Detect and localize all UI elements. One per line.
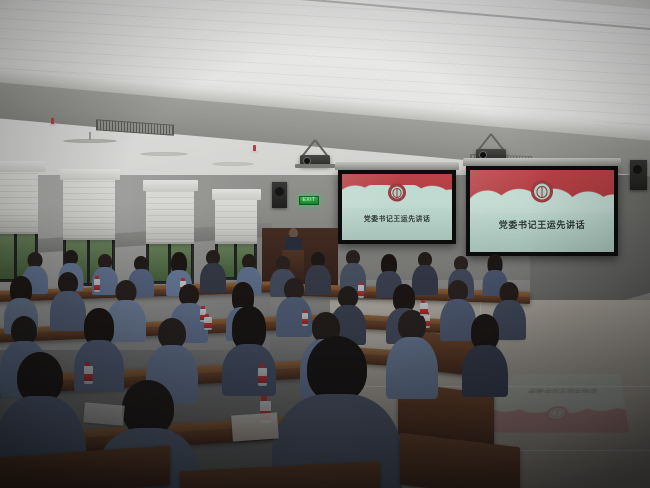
slide-title-left: 党委书记王运先讲话 xyxy=(342,214,452,224)
sprinkler-head-1 xyxy=(51,118,54,125)
bottle-label xyxy=(94,285,100,290)
window-blind xyxy=(215,196,257,244)
screen-roller-housing xyxy=(463,158,621,166)
party-emblem-icon xyxy=(390,185,405,200)
wall-speaker-right xyxy=(630,160,647,190)
blind-ribs xyxy=(215,196,257,242)
person-head xyxy=(307,336,367,402)
conference-hall-photo: EXIT 党委书记王运先讲话 党委书记王运先讲话 xyxy=(0,0,650,488)
window-blind xyxy=(63,178,115,240)
window-1-header xyxy=(0,161,46,172)
blind-ribs xyxy=(146,188,194,242)
bottle-label xyxy=(420,309,428,314)
window-4-header xyxy=(212,189,261,200)
right-screen: 党委书记王运先讲话 xyxy=(466,166,618,256)
bottle-label xyxy=(258,376,267,383)
fan-stem-1 xyxy=(89,132,91,140)
ceiling-fan-3 xyxy=(212,162,254,166)
audience-person xyxy=(222,306,276,392)
ceiling-fan-2 xyxy=(140,152,188,156)
wall-speaker-left xyxy=(272,182,287,208)
window-blind xyxy=(146,188,194,244)
slide-title-reflection: 党委书记王运先讲话 xyxy=(501,387,623,393)
window-blind xyxy=(0,170,38,234)
projector-mount-plate xyxy=(295,164,335,168)
person-torso xyxy=(462,345,508,397)
slide-right: 党委书记王运先讲话 xyxy=(470,170,614,252)
slide-left: 党委书记王运先讲话 xyxy=(342,174,452,240)
party-emblem-icon xyxy=(533,182,552,201)
exit-sign: EXIT xyxy=(299,196,319,205)
left-screen: 党委书记王运先讲话 xyxy=(338,170,456,244)
screen-roller-housing xyxy=(335,162,459,170)
person-torso xyxy=(222,344,276,396)
window-2-header xyxy=(60,169,120,180)
document-paper xyxy=(83,402,125,425)
audience-person xyxy=(462,314,508,394)
document-paper xyxy=(231,412,279,441)
window-3-header xyxy=(143,180,198,191)
slide-title-right: 党委书记王运先讲话 xyxy=(470,218,614,231)
blind-ribs xyxy=(63,178,115,238)
exit-sign-label: EXIT xyxy=(302,198,315,203)
blind-ribs xyxy=(0,170,38,232)
sprinkler-head-2 xyxy=(253,145,256,152)
bottle-label xyxy=(204,323,212,328)
ceiling-projector-left xyxy=(292,140,338,172)
